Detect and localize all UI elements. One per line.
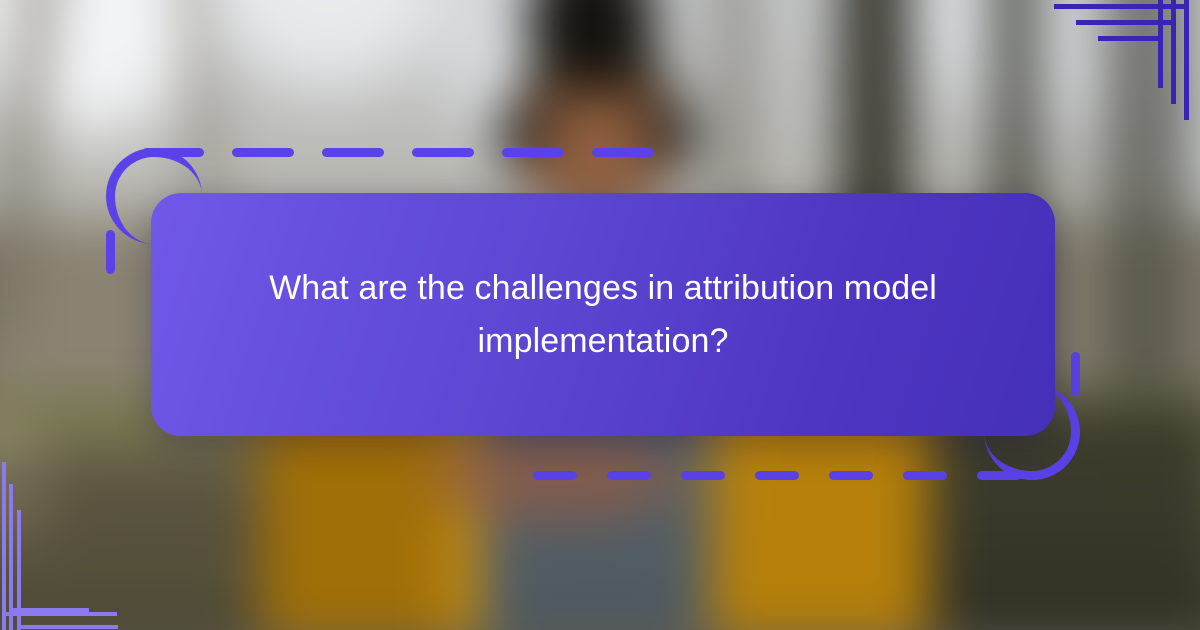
dash-segment [607, 471, 651, 480]
background-person-hair [650, 100, 694, 170]
dash-segment [502, 148, 564, 157]
dash-segment [903, 471, 947, 480]
dashed-frame-tail-bottom-right [1071, 352, 1080, 396]
dashed-frame-tail-top-left [106, 230, 115, 274]
background-person-hair [500, 100, 544, 170]
question-text: What are the challenges in attribution m… [207, 262, 999, 367]
dash-segment [977, 471, 1021, 480]
corner-bracket-top-right [1184, 0, 1189, 120]
background-bench [0, 516, 300, 550]
dash-segment [755, 471, 799, 480]
dash-segment [533, 471, 577, 480]
dash-segment [829, 471, 873, 480]
corner-bracket-bottom-left [9, 608, 89, 612]
corner-bracket-top-right [1171, 0, 1176, 104]
dash-segment [232, 148, 294, 157]
background-tree-trunk [720, 0, 750, 220]
corner-bracket-bottom-left [17, 625, 118, 629]
corner-bracket-top-right [1158, 0, 1163, 88]
corner-bracket-bottom-left [17, 510, 21, 630]
dash-segment [142, 148, 204, 157]
corner-bracket-top-right [1054, 4, 1189, 9]
dash-segment [412, 148, 474, 157]
corner-bracket-bottom-left [2, 462, 6, 630]
dash-segment [592, 148, 654, 157]
dash-segment [322, 148, 384, 157]
corner-bracket-top-right [1098, 36, 1163, 41]
dash-segment [681, 471, 725, 480]
share-card-canvas: What are the challenges in attribution m… [0, 0, 1200, 630]
question-card: What are the challenges in attribution m… [151, 193, 1055, 436]
